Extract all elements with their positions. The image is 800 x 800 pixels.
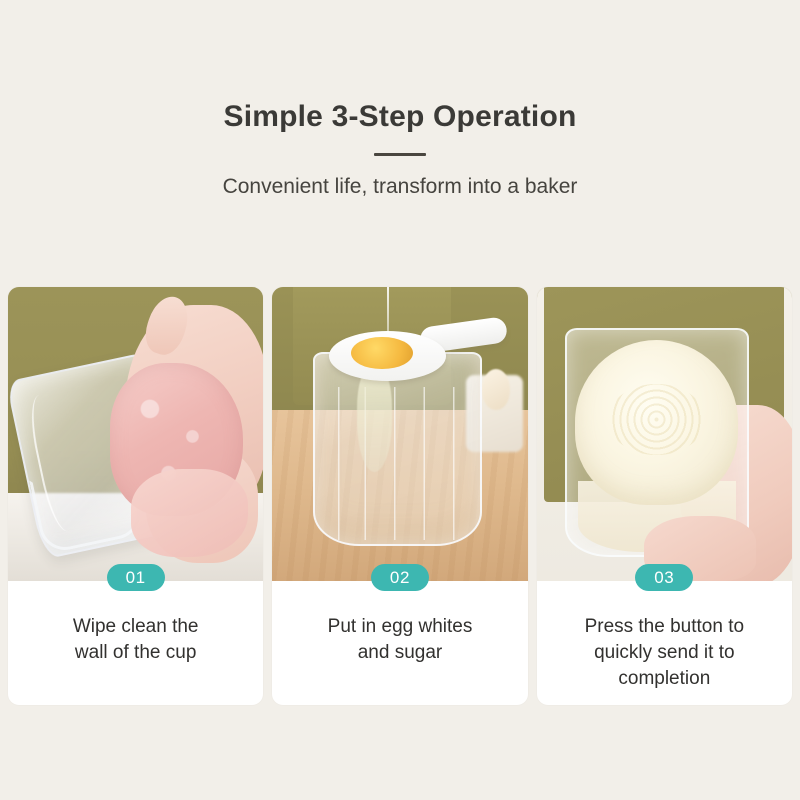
step-photo-whipped-cream	[537, 287, 792, 581]
page-header: Simple 3-Step Operation Convenient life,…	[0, 0, 800, 200]
photo3-cream-swirl	[608, 384, 705, 455]
page-title: Simple 3-Step Operation	[0, 98, 800, 136]
steps-row: 01 Wipe clean the wall of the cup 02 Put…	[8, 287, 792, 705]
step-card-01[interactable]: 01 Wipe clean the wall of the cup	[8, 287, 263, 705]
step-card-03[interactable]: 03 Press the button to quickly send it t…	[537, 287, 792, 705]
step-badge-01: 01	[107, 564, 165, 591]
step-photo-egg-whites	[272, 287, 527, 581]
caption-line: completion	[547, 666, 782, 692]
title-divider	[374, 153, 426, 156]
photo1-pink-cloth-fold	[131, 469, 248, 557]
caption-line: quickly send it to	[547, 640, 782, 666]
photo2-egg	[482, 369, 510, 410]
step-caption-01: Wipe clean the wall of the cup	[8, 581, 263, 705]
step-card-02[interactable]: 02 Put in egg whites and sugar	[272, 287, 527, 705]
caption-line: Press the button to	[547, 614, 782, 640]
step-caption-03: Press the button to quickly send it to c…	[537, 581, 792, 705]
photo2-egg-yolk	[351, 337, 412, 369]
step-caption-02: Put in egg whites and sugar	[272, 581, 527, 705]
photo2-egg-white-drip	[357, 366, 393, 472]
step-badge-02: 02	[371, 564, 429, 591]
caption-line: Put in egg whites	[282, 614, 517, 640]
step-badge-03: 03	[635, 564, 693, 591]
photo2-cup-ribs	[323, 387, 471, 540]
page-subtitle: Convenient life, transform into a baker	[0, 174, 800, 200]
caption-line: Wipe clean the	[18, 614, 253, 640]
caption-line: wall of the cup	[18, 640, 253, 666]
step-photo-wipe-cup	[8, 287, 263, 581]
caption-line: and sugar	[282, 640, 517, 666]
